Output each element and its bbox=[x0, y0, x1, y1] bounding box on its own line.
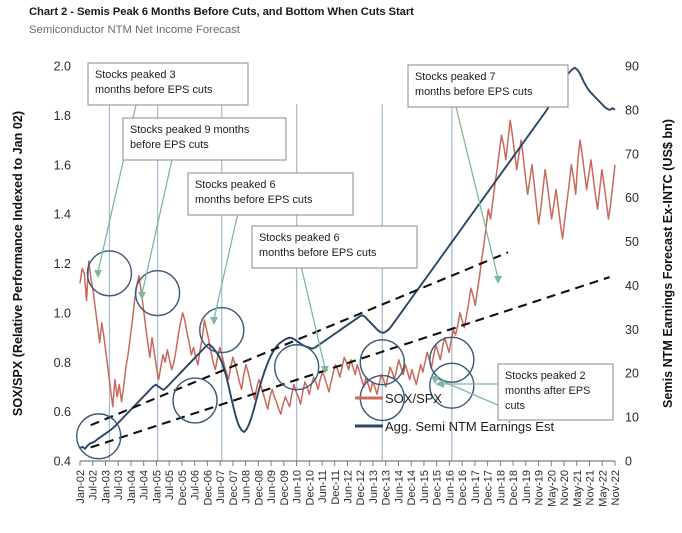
y-axis-tick-label: 0.6 bbox=[54, 405, 71, 419]
y-axis-tick-label: 1.4 bbox=[54, 208, 71, 222]
x-axis-tick-label: Jul-03 bbox=[113, 470, 125, 500]
x-axis-tick-label: Jan-02 bbox=[75, 470, 87, 504]
x-axis-tick-label: Jul-04 bbox=[139, 470, 151, 500]
x-axis-tick-label: Jun-18 bbox=[495, 470, 507, 504]
legend-label-0: SOX/SPX bbox=[385, 391, 442, 406]
chart-canvas: 0.40.60.81.01.21.41.61.82.00102030405060… bbox=[0, 0, 682, 533]
x-axis-tick-label: Jun-14 bbox=[393, 470, 405, 504]
x-axis-tick-label: Dec-09 bbox=[279, 470, 291, 505]
x-axis-tick-label: Dec-05 bbox=[177, 470, 189, 505]
annotation-text-a3: months before EPS cuts bbox=[195, 194, 313, 206]
annotation-text-a6: Stocks peaked 2 bbox=[505, 370, 586, 382]
annotation-text-a6: cuts bbox=[505, 400, 526, 412]
x-axis-tick-label: Nov-21 bbox=[585, 470, 597, 505]
annotation-text-a2: before EPS cuts bbox=[130, 139, 209, 151]
x-axis-tick-label: Dec-17 bbox=[483, 470, 495, 505]
x-axis-tick-label: Dec-18 bbox=[508, 470, 520, 505]
x-axis-tick-label: May-20 bbox=[546, 470, 558, 507]
x-axis-tick-label: Jun-16 bbox=[444, 470, 456, 504]
x-axis-tick-label: Jul-06 bbox=[190, 470, 202, 500]
y-axis-tick-label: 1.6 bbox=[54, 158, 71, 172]
marker-bottom-circle-1 bbox=[77, 414, 121, 459]
x-axis-tick-label: Jul-05 bbox=[164, 470, 176, 500]
x-axis-tick-label: Jul-02 bbox=[88, 470, 100, 500]
x-axis-tick-label: Jan-05 bbox=[151, 470, 163, 504]
y-axis-tick-label: 2.0 bbox=[54, 60, 71, 74]
marker-bottom-circle-2 bbox=[173, 378, 217, 423]
y-axis-tick-label: 1.2 bbox=[54, 257, 71, 271]
annotation-arrow-a5 bbox=[456, 107, 498, 278]
x-axis-tick-label: Dec-13 bbox=[381, 470, 393, 505]
x-axis-tick-label: Dec-16 bbox=[457, 470, 469, 505]
y2-axis-tick-label: 60 bbox=[625, 191, 639, 205]
x-axis-tick-label: Jun-08 bbox=[241, 470, 253, 504]
annotation-text-a2: Stocks peaked 9 months bbox=[130, 124, 250, 136]
x-axis-tick-label: Dec-11 bbox=[330, 470, 342, 505]
y-axis-tick-label: 0.4 bbox=[54, 455, 71, 469]
annotation-text-a5: Stocks peaked 7 bbox=[415, 71, 496, 83]
annotation-text-a1: months before EPS cuts bbox=[95, 84, 213, 96]
annotation-text-a6: months after EPS bbox=[505, 385, 590, 397]
y-axis-title: SOX/SPX (Relative Performance Indexed to… bbox=[11, 111, 25, 416]
annotation-arrowhead-a1 bbox=[94, 270, 102, 278]
x-axis-tick-label: Dec-10 bbox=[304, 470, 316, 505]
annotation-text-a5: months before EPS cuts bbox=[415, 86, 533, 98]
y2-axis-tick-label: 40 bbox=[625, 279, 639, 293]
x-axis-tick-label: Dec-06 bbox=[202, 470, 214, 505]
y-axis-tick-label: 1.0 bbox=[54, 306, 71, 320]
x-axis-tick-label: Jun-19 bbox=[521, 470, 533, 504]
x-axis-tick-label: Dec-07 bbox=[228, 470, 240, 505]
x-axis-tick-label: May-21 bbox=[572, 470, 584, 507]
annotation-arrowhead-a3 bbox=[210, 317, 218, 325]
y2-axis-tick-label: 0 bbox=[625, 455, 632, 469]
x-axis-tick-label: Jun-15 bbox=[419, 470, 431, 504]
x-axis-tick-label: Nov-20 bbox=[559, 470, 571, 505]
x-axis-tick-label: Jan-03 bbox=[100, 470, 112, 504]
x-axis-tick-label: Dec-08 bbox=[253, 470, 265, 505]
y2-axis-tick-label: 50 bbox=[625, 235, 639, 249]
x-axis-tick-label: Jun-11 bbox=[317, 470, 329, 503]
x-axis-tick-label: Dec-15 bbox=[432, 470, 444, 505]
annotation-text-a4: Stocks peaked 6 bbox=[259, 232, 340, 244]
y-axis-tick-label: 0.8 bbox=[54, 356, 71, 370]
y2-axis-tick-label: 10 bbox=[625, 411, 639, 425]
y2-axis-tick-label: 80 bbox=[625, 103, 639, 117]
chart-root: Chart 2 - Semis Peak 6 Months Before Cut… bbox=[0, 0, 682, 533]
annotation-arrowhead-a2 bbox=[138, 292, 146, 300]
annotation-text-a3: Stocks peaked 6 bbox=[195, 179, 276, 191]
x-axis-tick-label: Dec-12 bbox=[355, 470, 367, 505]
annotation-arrowhead-a5 bbox=[494, 276, 502, 284]
x-axis-tick-label: Dec-14 bbox=[406, 470, 418, 505]
x-axis-tick-label: Jun-17 bbox=[470, 470, 482, 504]
x-axis-tick-label: Jun-09 bbox=[266, 470, 278, 504]
annotation-text-a4: months before EPS cuts bbox=[259, 247, 377, 259]
y-axis-tick-label: 1.8 bbox=[54, 109, 71, 123]
y2-axis-tick-label: 90 bbox=[625, 60, 639, 74]
x-axis-tick-label: Jun-13 bbox=[368, 470, 380, 504]
legend-label-1: Agg. Semi NTM Earnings Est bbox=[385, 419, 554, 434]
x-axis-tick-label: Jun-07 bbox=[215, 470, 227, 504]
x-axis-tick-label: May-22 bbox=[597, 470, 609, 507]
annotation-arrow-a3 bbox=[214, 215, 238, 319]
y2-axis-title: Semis NTM Earnings Forecast Ex-INTC (US$… bbox=[661, 119, 675, 408]
x-axis-tick-label: Jun-10 bbox=[292, 470, 304, 504]
x-axis-tick-label: Nov-22 bbox=[610, 470, 622, 505]
y2-axis-tick-label: 20 bbox=[625, 367, 639, 381]
annotation-text-a1: Stocks peaked 3 bbox=[95, 69, 176, 81]
y2-axis-tick-label: 70 bbox=[625, 147, 639, 161]
x-axis-tick-label: Jun-12 bbox=[343, 470, 355, 504]
x-axis-tick-label: Nov-19 bbox=[534, 470, 546, 505]
y2-axis-tick-label: 30 bbox=[625, 323, 639, 337]
x-axis-tick-label: Jan-04 bbox=[126, 470, 138, 504]
